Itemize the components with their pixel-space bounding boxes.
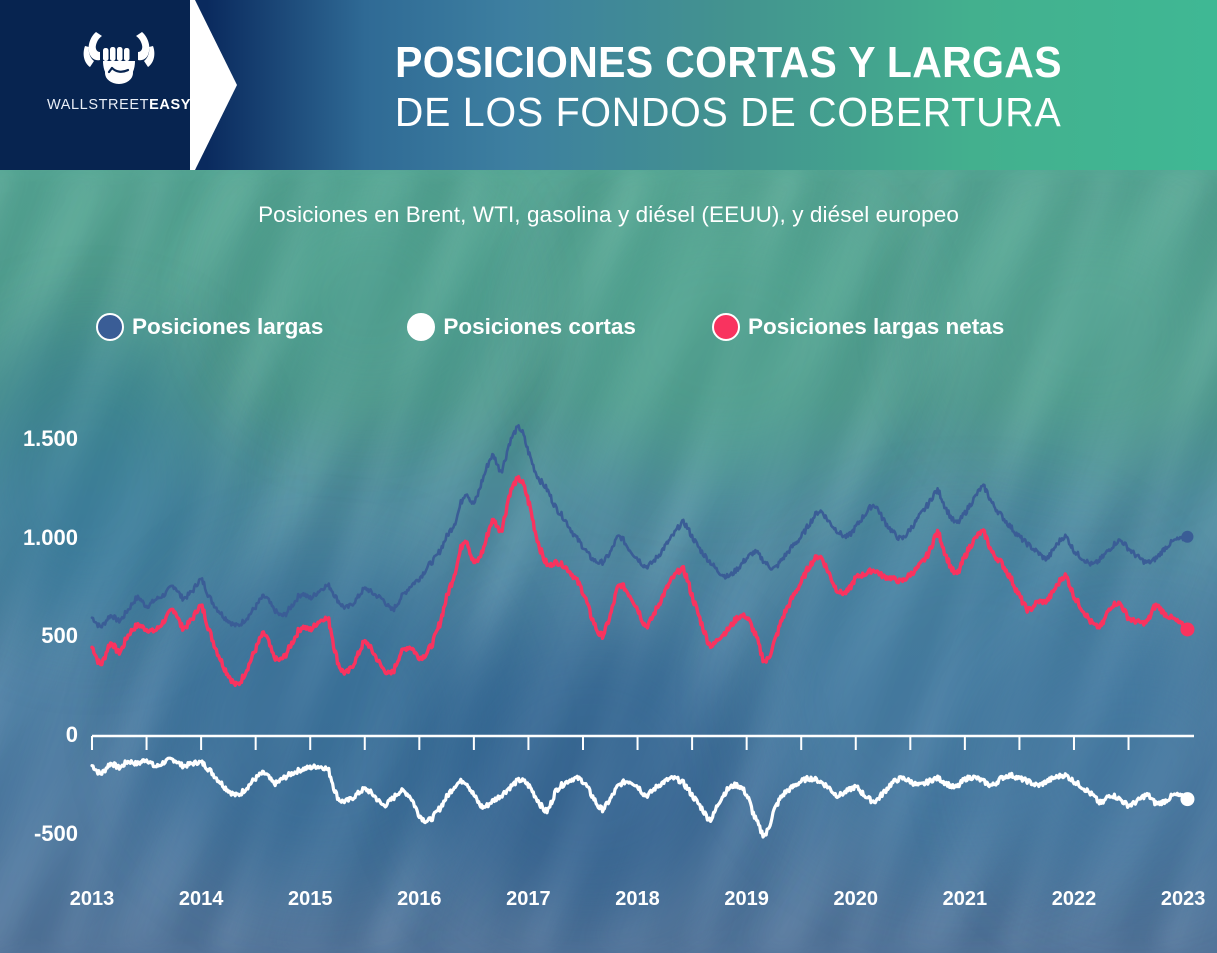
- x-axis-tick-label: 2021: [943, 888, 988, 911]
- x-axis-tick-label: 2022: [1052, 888, 1097, 911]
- brand-wordmark: WALLSTREETEASY: [47, 97, 191, 113]
- x-axis-tick-label: 2019: [724, 888, 769, 911]
- header-titles: POSICIONES CORTAS Y LARGAS DE LOS FONDOS…: [240, 0, 1217, 170]
- x-axis-tick-label: 2015: [288, 888, 333, 911]
- infographic-root: WALLSTREETEASY POSICIONES CORTAS Y LARGA…: [0, 0, 1217, 953]
- legend-label-netas: Posiciones largas netas: [748, 314, 1004, 340]
- x-axis-tick-label: 2020: [834, 888, 879, 911]
- x-axis-tick-label: 2016: [397, 888, 442, 911]
- y-axis-tick-label: -500: [0, 821, 78, 847]
- series-end-marker: [1180, 792, 1194, 806]
- chart-plot-svg: [0, 360, 1217, 953]
- page-title: POSICIONES CORTAS Y LARGAS: [395, 40, 1062, 87]
- series-line-largas: [92, 425, 1188, 627]
- series-line-cortas: [92, 758, 1188, 837]
- legend-item-cortas[interactable]: Posiciones cortas: [407, 313, 636, 341]
- legend-item-netas[interactable]: Posiciones largas netas: [712, 313, 1004, 341]
- legend-dot-white-icon: [407, 313, 435, 341]
- legend-label-largas: Posiciones largas: [132, 314, 323, 340]
- chart-area: -50005001.0001.500 201320142015201620172…: [0, 360, 1217, 953]
- chart-legend: Posiciones largas Posiciones cortas Posi…: [96, 303, 1126, 351]
- legend-label-cortas: Posiciones cortas: [443, 314, 636, 340]
- series-end-marker: [1180, 622, 1194, 636]
- x-axis-tick-label: 2023: [1161, 888, 1206, 911]
- y-axis-tick-label: 1.500: [0, 426, 78, 452]
- brand-wordmark-bold: EASY: [149, 97, 191, 113]
- x-axis-tick-label: 2013: [70, 888, 115, 911]
- x-axis-tick-label: 2017: [506, 888, 551, 911]
- bull-fist-logo-icon: [76, 28, 162, 90]
- series-end-marker: [1181, 531, 1193, 543]
- x-axis-tick-label: 2014: [179, 888, 224, 911]
- legend-dot-blue-icon: [96, 313, 124, 341]
- series-line-netas: [92, 477, 1188, 686]
- page-subtitle-line: DE LOS FONDOS DE COBERTURA: [395, 89, 1062, 137]
- x-axis-tick-label: 2018: [615, 888, 660, 911]
- legend-item-largas[interactable]: Posiciones largas: [96, 313, 323, 341]
- y-axis-tick-label: 500: [0, 623, 78, 649]
- chart-subtitle: Posiciones en Brent, WTI, gasolina y dié…: [0, 202, 1217, 228]
- y-axis-tick-label: 1.000: [0, 525, 78, 551]
- legend-dot-pink-icon: [712, 313, 740, 341]
- logo-panel-chevron-edge: [190, 0, 242, 170]
- y-axis-tick-label: 0: [0, 722, 78, 748]
- header-banner: WALLSTREETEASY POSICIONES CORTAS Y LARGA…: [0, 0, 1217, 170]
- brand-logo[interactable]: WALLSTREETEASY: [44, 28, 194, 138]
- brand-wordmark-light: WALLSTREET: [47, 97, 149, 113]
